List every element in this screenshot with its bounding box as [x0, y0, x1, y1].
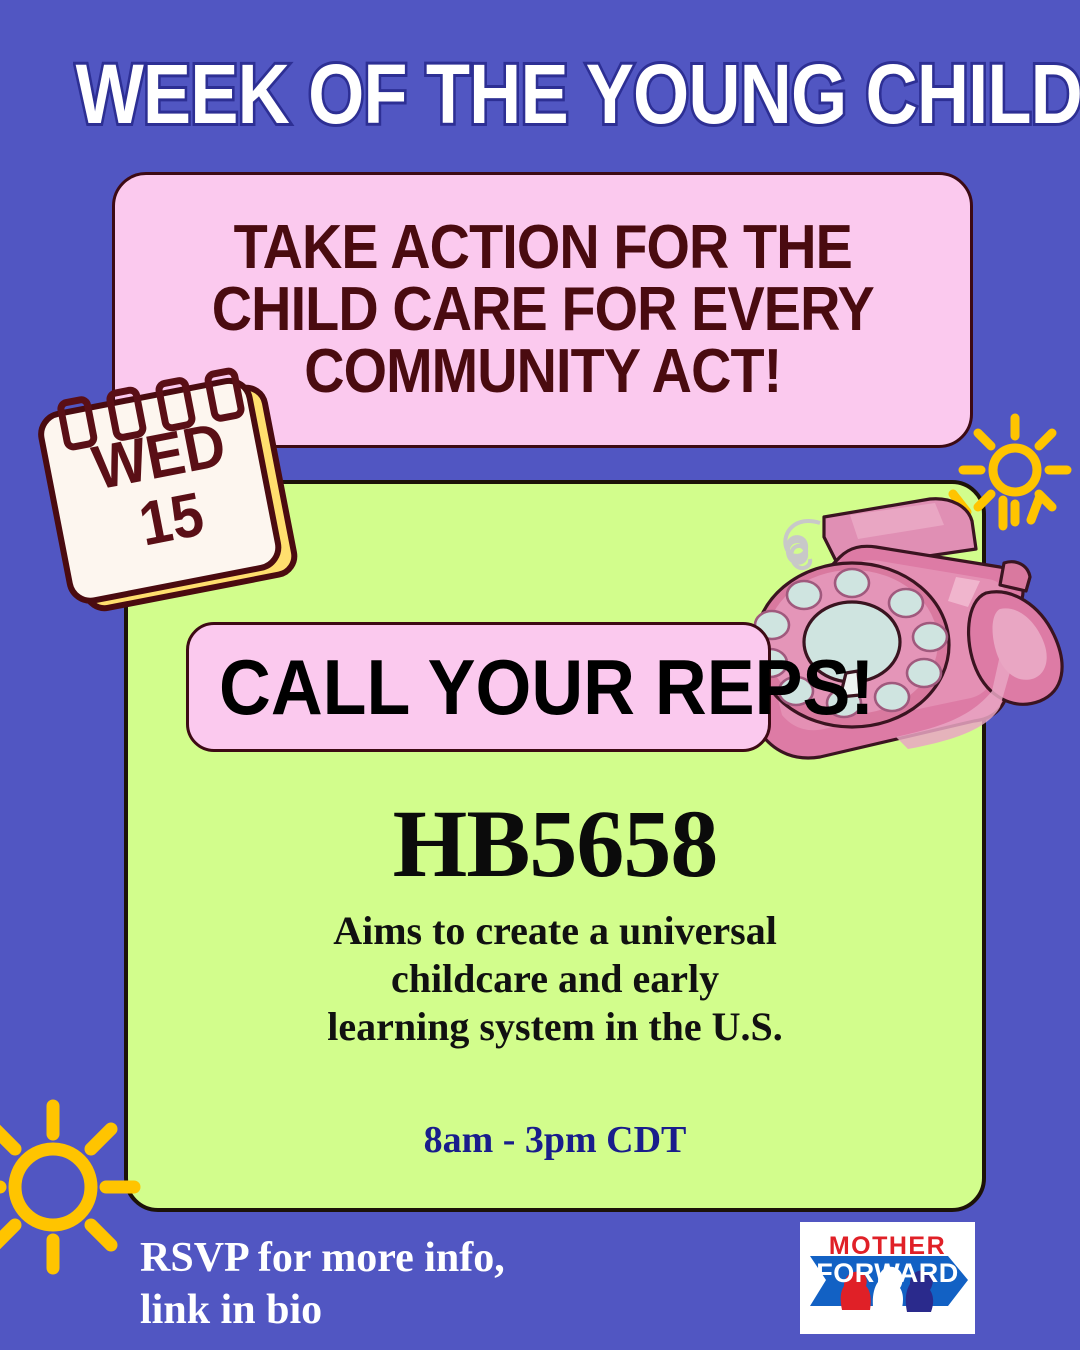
rsvp-line-2: link in bio: [140, 1284, 505, 1336]
rsvp-line-1: RSVP for more info,: [140, 1232, 505, 1284]
headline-line-2: CHILD CARE FOR EVERY: [211, 279, 873, 341]
bill-description-line-3: learning system in the U.S.: [124, 1003, 986, 1051]
call-to-action-banner: CALL YOUR REPS!: [186, 622, 771, 752]
mother-forward-logo: MOTHER FORWARD: [800, 1222, 975, 1334]
poster-canvas: WEEK OF THE YOUNG CHILD TAKE ACTION FOR …: [0, 0, 1080, 1350]
calendar-badge: WED 15: [30, 356, 320, 635]
call-to-action-text: CALL YOUR REPS!: [219, 648, 874, 726]
bill-description: Aims to create a universal childcare and…: [124, 907, 986, 1051]
rsvp-note: RSVP for more info, link in bio: [140, 1232, 505, 1336]
bill-number: HB5658: [124, 795, 986, 893]
bill-description-line-1: Aims to create a universal: [124, 907, 986, 955]
bill-description-line-2: childcare and early: [124, 955, 986, 1003]
calendar-page: WED 15: [34, 374, 285, 608]
headline-line-1: TAKE ACTION FOR THE: [211, 217, 873, 279]
logo-bottom-word: FORWARD: [800, 1258, 975, 1289]
bill-info-block: HB5658 Aims to create a universal childc…: [124, 795, 986, 1051]
headline-line-3: COMMUNITY ACT!: [211, 341, 873, 403]
headline-text: TAKE ACTION FOR THE CHILD CARE FOR EVERY…: [211, 217, 873, 403]
logo-top-word: MOTHER: [800, 1232, 975, 1261]
page-title: WEEK OF THE YOUNG CHILD: [76, 48, 1005, 140]
event-time: 8am - 3pm CDT: [124, 1118, 986, 1162]
